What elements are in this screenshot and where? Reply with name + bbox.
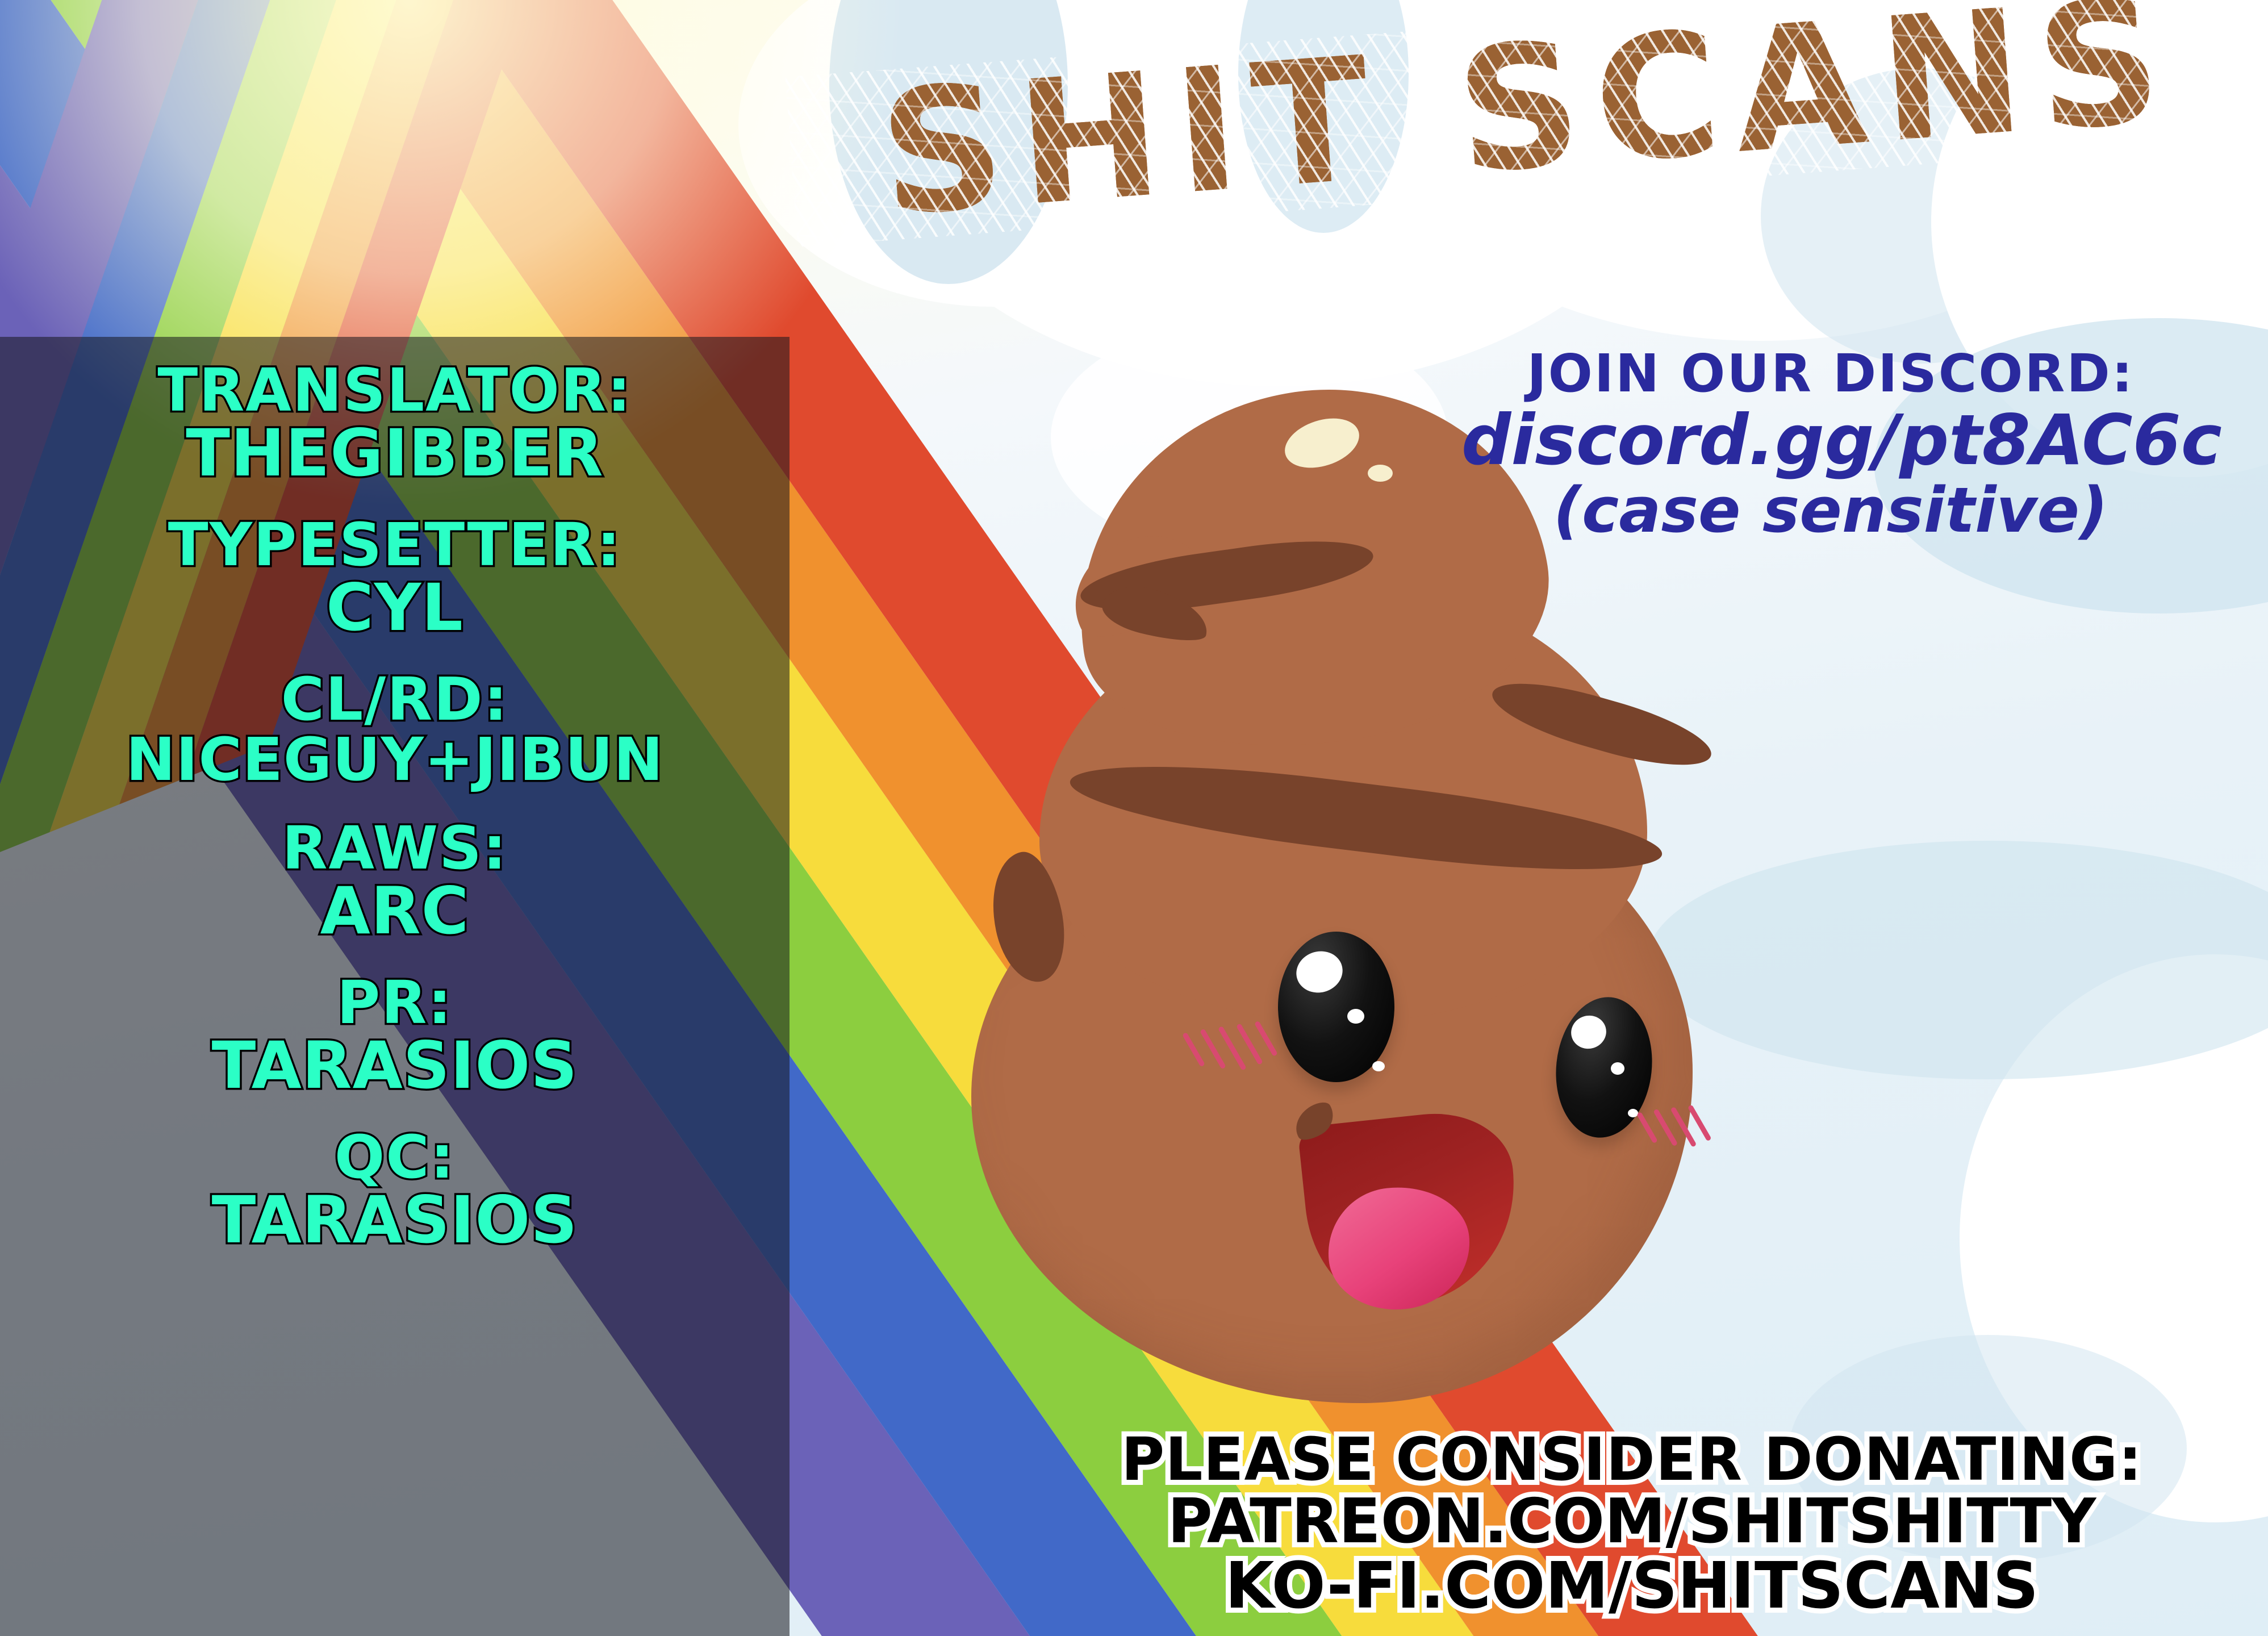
credit-role-label: TYPESETTER:	[0, 515, 790, 574]
donate-prompt: PLEASE CONSIDER DONATING:	[1064, 1429, 2200, 1490]
discord-invite-link[interactable]: discord.gg/pt8AC6c	[1461, 404, 2200, 477]
donation-block: PLEASE CONSIDER DONATING: PATREON.COM/SH…	[1064, 1429, 2200, 1619]
patreon-link[interactable]: PATREON.COM/SHITSHITTY	[1064, 1490, 2200, 1553]
credits-panel: TRANSLATOR: THEGIBBER TYPESETTER: CYL CL…	[0, 337, 790, 1636]
credit-translator: TRANSLATOR: THEGIBBER	[0, 361, 790, 486]
discord-case-note: (case sensitive)	[1461, 478, 2200, 544]
credit-cl-rd: CL/RD: NICEGUY+JIBUN	[0, 670, 790, 789]
credit-role-label: RAWS:	[0, 819, 790, 878]
credit-qc: QC: TARASIOS	[0, 1128, 790, 1253]
credit-typesetter: TYPESETTER: CYL	[0, 515, 790, 640]
credit-name-value: THEGIBBER	[0, 421, 790, 486]
credit-name-value: NICEGUY+JIBUN	[0, 730, 790, 789]
credit-role-label: PR:	[0, 973, 790, 1032]
credit-name-value: CYL	[0, 575, 790, 640]
discord-block: JOIN OUR DISCORD: discord.gg/pt8AC6c (ca…	[1461, 347, 2200, 543]
poop-left-eye	[1278, 932, 1394, 1082]
credit-role-label: TRANSLATOR:	[0, 361, 790, 420]
kofi-link[interactable]: KO-FI.COM/SHITSCANS	[1064, 1554, 2200, 1619]
credit-name-value: TARASIOS	[0, 1033, 790, 1098]
credit-role-label: QC:	[0, 1128, 790, 1187]
credit-name-value: TARASIOS	[0, 1188, 790, 1253]
poster-canvas: SHIT SCANS JOIN OUR DISCORD: discord.gg/…	[0, 0, 2268, 1636]
credit-pr: PR: TARASIOS	[0, 973, 790, 1098]
credit-name-value: ARC	[0, 879, 790, 944]
discord-label: JOIN OUR DISCORD:	[1461, 347, 2200, 402]
credit-role-label: CL/RD:	[0, 670, 790, 729]
credit-raws: RAWS: ARC	[0, 819, 790, 944]
